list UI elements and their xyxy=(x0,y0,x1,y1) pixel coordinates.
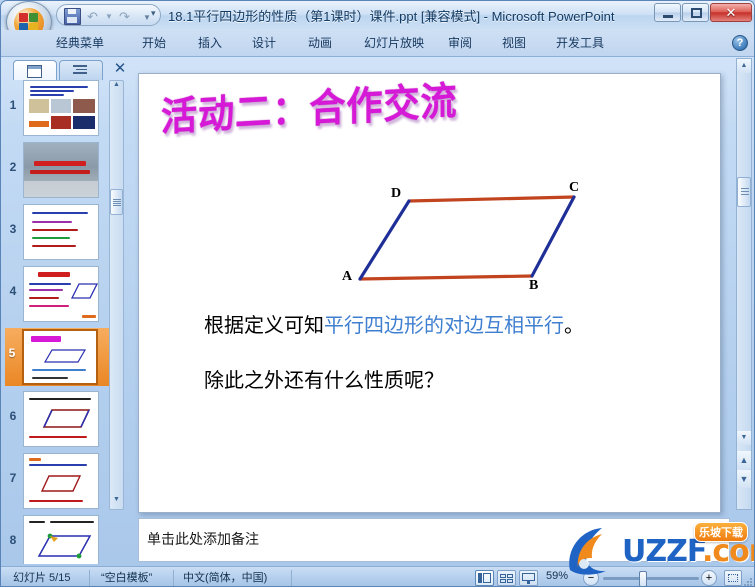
close-button[interactable]: ✕ xyxy=(710,3,752,22)
ribbon-options-icon[interactable]: ▾ xyxy=(151,8,156,19)
quick-access-toolbar: ↶ ▼ ↷ ▼ xyxy=(56,4,161,26)
tab-developer[interactable]: 开发工具 xyxy=(549,33,611,55)
thumbnail-slide-3[interactable]: 3 xyxy=(5,204,115,260)
vertex-label-d: D xyxy=(391,186,401,202)
tab-review[interactable]: 审阅 xyxy=(441,33,479,55)
thumbnail-number: 3 xyxy=(5,222,21,236)
thumbnail-preview xyxy=(23,204,99,260)
thumbnail-preview xyxy=(23,515,99,564)
zoom-out-button[interactable]: − xyxy=(583,570,599,586)
vertex-label-b: B xyxy=(529,278,538,294)
redo-icon[interactable]: ↷ xyxy=(119,9,130,25)
thumbnail-number: 1 xyxy=(5,98,21,112)
body-line-1-highlight: 平行四边形的对边互相平行 xyxy=(324,313,564,337)
notes-placeholder: 单击此处添加备注 xyxy=(147,529,259,549)
thumbnail-number: 7 xyxy=(5,471,21,485)
thumbnail-number: 2 xyxy=(5,160,21,174)
tab-design[interactable]: 设计 xyxy=(245,33,283,55)
slide-sorter-button[interactable] xyxy=(497,570,516,586)
maximize-button[interactable] xyxy=(682,3,709,22)
scroll-down-icon[interactable]: ▼ xyxy=(737,431,751,445)
thumbnail-scrollbar[interactable]: ▲ ▼ xyxy=(109,80,124,510)
slideshow-button[interactable] xyxy=(519,570,538,586)
notes-pane[interactable]: 单击此处添加备注 xyxy=(138,518,730,562)
outline-icon xyxy=(73,65,87,76)
zoom-in-button[interactable]: + xyxy=(701,570,717,586)
vertex-label-a: A xyxy=(342,269,352,285)
thumbnail-preview xyxy=(22,329,98,385)
fit-slide-to-window-button[interactable] xyxy=(724,570,742,586)
help-icon[interactable]: ? xyxy=(732,35,748,51)
title-bar: ↶ ▼ ↷ ▼ ▾ 18.1平行四边形的性质（第1课时）课件.ppt [兼容模式… xyxy=(1,1,755,30)
thumbnail-scroll-down-icon[interactable]: ▼ xyxy=(110,496,123,509)
thumbnail-slide-4[interactable]: 4 xyxy=(5,266,115,322)
thumbnail-slide-8[interactable]: 8 xyxy=(5,515,115,564)
save-icon[interactable] xyxy=(64,8,81,25)
minimize-button[interactable] xyxy=(654,3,681,22)
thumbnail-preview xyxy=(23,142,99,198)
thumbnail-scroll-thumb[interactable] xyxy=(110,189,123,215)
thumbnail-preview xyxy=(23,266,99,322)
outline-tab[interactable] xyxy=(59,60,103,80)
thumbnail-slide-2[interactable]: 2 xyxy=(5,142,115,198)
parallelogram-figure[interactable] xyxy=(139,74,721,513)
resize-grip[interactable] xyxy=(742,576,754,587)
slide-scrollbar[interactable]: ▲ ▼ ▲ ▼ xyxy=(736,58,752,510)
tab-animation[interactable]: 动画 xyxy=(301,33,339,55)
tab-classic-menu[interactable]: 经典菜单 xyxy=(49,33,111,55)
thumbnail-preview xyxy=(23,453,99,509)
thumbnail-slide-6[interactable]: 6 xyxy=(5,391,115,447)
undo-dropdown-icon[interactable]: ▼ xyxy=(105,12,113,21)
tab-home[interactable]: 开始 xyxy=(135,33,173,55)
thumbnail-preview xyxy=(23,391,99,447)
ribbon-tab-bar: 经典菜单 开始 插入 设计 动画 幻灯片放映 审阅 视图 开发工具 ? xyxy=(1,30,755,57)
vertex-label-c: C xyxy=(569,180,579,196)
slide-editor-area: 活动二：合作交流 A B C D 根据定义可知平行四边形的对边互相平行。 除此之… xyxy=(131,56,735,516)
undo-icon[interactable]: ↶ xyxy=(87,9,98,25)
thumbnail-slide-5[interactable]: 5 xyxy=(5,328,116,386)
work-area: ✕ 1 xyxy=(1,56,755,566)
tab-insert[interactable]: 插入 xyxy=(191,33,229,55)
thumbnail-number: 8 xyxy=(5,533,21,547)
slides-icon xyxy=(27,65,42,78)
slide-body-line-1[interactable]: 根据定义可知平行四边形的对边互相平行。 xyxy=(204,309,584,338)
powerpoint-window: ↶ ▼ ↷ ▼ ▾ 18.1平行四边形的性质（第1课时）课件.ppt [兼容模式… xyxy=(0,0,755,587)
thumbnail-slide-7[interactable]: 7 xyxy=(5,453,115,509)
previous-slide-icon[interactable]: ▲ xyxy=(737,451,751,469)
thumbnail-slide-1[interactable]: 1 xyxy=(5,80,115,136)
normal-view-button[interactable] xyxy=(475,570,494,586)
status-bar: 幻灯片 5/15 “空白模板” 中文(简体，中国) 59% − + xyxy=(1,566,755,587)
body-line-1-end: 。 xyxy=(564,313,584,337)
slide-thumbnail-list[interactable]: 1 2 xyxy=(5,80,126,564)
slide-counter: 幻灯片 5/15 xyxy=(13,570,70,586)
scroll-up-icon[interactable]: ▲ xyxy=(737,59,751,73)
thumbnail-number: 5 xyxy=(5,346,20,360)
thumbnail-scroll-up-icon[interactable]: ▲ xyxy=(110,81,123,94)
customize-quick-access-icon[interactable]: ▼ xyxy=(143,13,151,22)
tab-slideshow[interactable]: 幻灯片放映 xyxy=(357,33,431,55)
language-indicator[interactable]: 中文(简体，中国) xyxy=(183,570,267,586)
template-name[interactable]: “空白模板” xyxy=(101,570,152,586)
next-slide-icon[interactable]: ▼ xyxy=(737,470,751,488)
slide-body-line-2[interactable]: 除此之外还有什么性质呢？ xyxy=(204,364,444,393)
zoom-level[interactable]: 59% xyxy=(546,570,568,582)
slide-panel-tabs: ✕ xyxy=(7,58,125,80)
tab-view[interactable]: 视图 xyxy=(495,33,533,55)
body-line-1-plain: 根据定义可知 xyxy=(204,313,324,337)
zoom-slider[interactable] xyxy=(603,577,699,580)
current-slide[interactable]: 活动二：合作交流 A B C D 根据定义可知平行四边形的对边互相平行。 除此之… xyxy=(138,73,721,513)
scroll-thumb[interactable] xyxy=(737,177,751,207)
window-controls: ✕ xyxy=(653,3,752,24)
slides-tab[interactable] xyxy=(13,60,57,80)
thumbnail-preview xyxy=(23,80,99,136)
thumbnail-number: 4 xyxy=(5,284,21,298)
close-panel-icon[interactable]: ✕ xyxy=(110,59,130,79)
zoom-slider-handle[interactable] xyxy=(639,571,647,587)
window-title: 18.1平行四边形的性质（第1课时）课件.ppt [兼容模式] - Micros… xyxy=(168,6,614,25)
thumbnail-number: 6 xyxy=(5,409,21,423)
